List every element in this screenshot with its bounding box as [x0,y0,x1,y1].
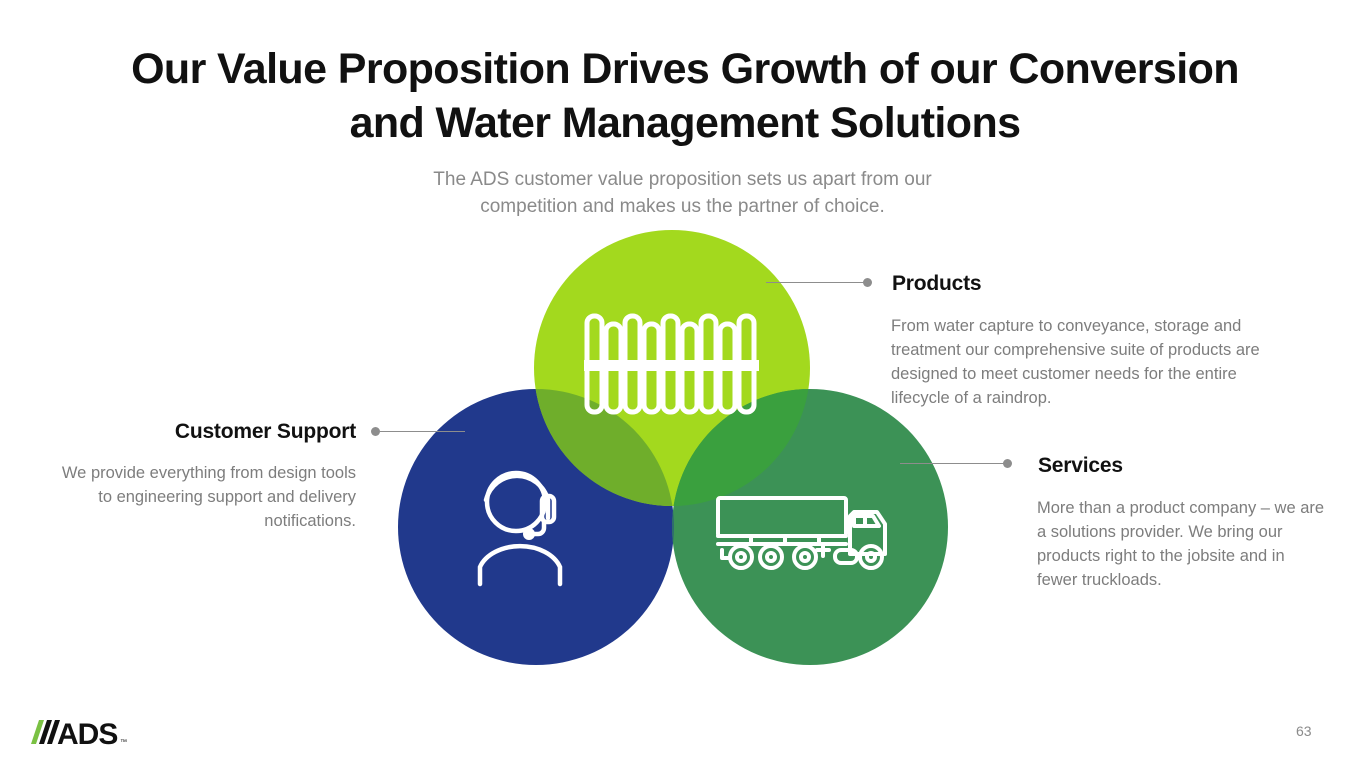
connector-line [380,431,465,432]
page-title-line-2: and Water Management Solutions [90,96,1280,150]
slide-canvas: Our Value Proposition Drives Growth of o… [0,0,1365,768]
logo-slashes [31,720,60,744]
connector-line [900,463,1004,464]
logo-trademark: ™ [120,739,127,746]
pipes-icon [584,310,759,420]
connector-line [766,282,864,283]
page-subtitle: The ADS customer value proposition sets … [370,166,995,220]
truck-icon [713,494,893,572]
callout-body-customer-support: We provide everything from design tools … [52,461,356,533]
page-title: Our Value Proposition Drives Growth of o… [90,42,1280,150]
page-title-line-1: Our Value Proposition Drives Growth of o… [90,42,1280,96]
logo-wordmark: ADS [57,718,117,748]
connector-dot [371,427,380,436]
venn-diagram [398,230,948,665]
ads-logo[interactable]: ADS ™ [27,714,127,748]
page-subtitle-line-2: competition and makes us the partner of … [370,193,995,220]
callout-title-products: Products [892,272,981,296]
callout-body-services: More than a product company – we are a s… [1037,496,1327,592]
callout-title-services: Services [1038,454,1123,478]
page-subtitle-line-1: The ADS customer value proposition sets … [370,166,995,193]
venn-circles [398,230,948,665]
callout-title-customer-support: Customer Support [132,420,356,444]
headset-person-icon [472,462,572,587]
connector-dot [863,278,872,287]
connector-dot [1003,459,1012,468]
page-number: 63 [1296,723,1312,739]
callout-body-products: From water capture to conveyance, storag… [891,314,1291,410]
